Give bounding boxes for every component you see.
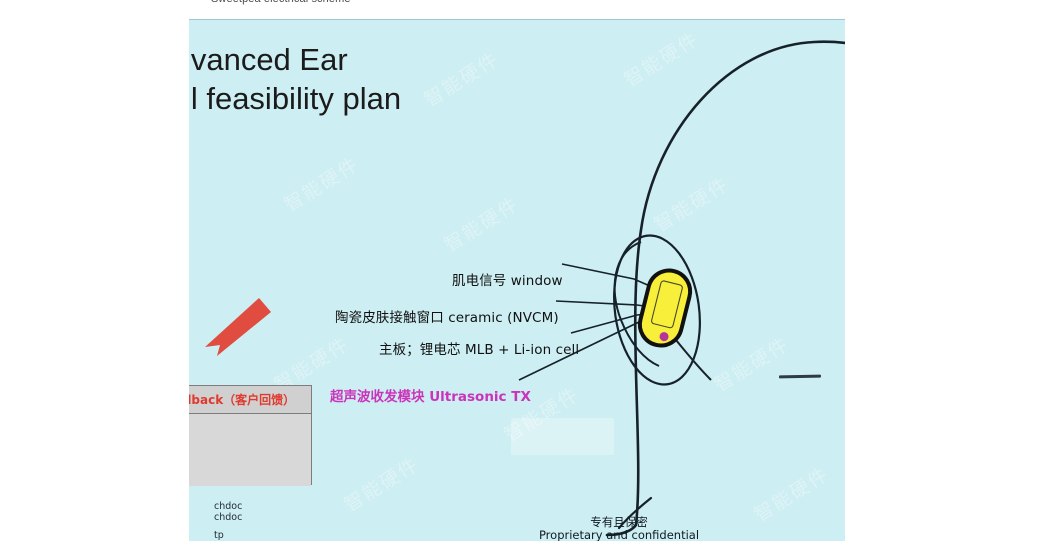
watermark: 智能硬件 xyxy=(278,150,364,217)
confidential-en: Proprietary and confidential xyxy=(529,529,709,541)
screenshot-root: Sweetpea electrical scheme 智能硬件 智能硬件 智能硬… xyxy=(0,0,1057,557)
edge-text-fragment: tp xyxy=(214,530,224,541)
watermark: 智能硬件 xyxy=(438,190,524,257)
watermark: 智能硬件 xyxy=(748,460,834,527)
watermark: 智能硬件 xyxy=(338,450,424,517)
watermark: 智能硬件 xyxy=(708,330,794,397)
window-title-text: Sweetpea electrical scheme xyxy=(211,0,351,5)
red-arrow-icon xyxy=(189,290,279,370)
watermark: 智能硬件 xyxy=(648,170,734,237)
callout-mlb-cell: 主板；锂电芯 MLB + Li-ion cell xyxy=(379,338,579,358)
callout-ultrasonic-tx: 超声波收发模块 Ultrasonic TX xyxy=(330,385,531,405)
feedback-panel-header: ...edback（客户回馈） xyxy=(189,386,311,414)
edge-text-fragment: chdoc xyxy=(214,501,242,512)
feedback-panel-body[interactable] xyxy=(189,414,311,486)
feedback-panel[interactable]: ...edback（客户回馈） xyxy=(189,385,312,485)
faint-rectangle-block xyxy=(511,418,614,455)
feedback-panel-title: ...edback（客户回馈） xyxy=(189,391,295,408)
confidential-footer: 专有且保密 Proprietary and confidential xyxy=(529,515,709,541)
edge-text-fragment: chdoc xyxy=(214,512,242,523)
confidential-cn: 专有且保密 xyxy=(529,515,709,529)
slide-title: ...vanced Ear ...l feasibility plan xyxy=(189,40,685,118)
callout-emg-window: 肌电信号 window xyxy=(452,269,563,289)
slide-canvas[interactable]: 智能硬件 智能硬件 智能硬件 智能硬件 智能硬件 智能硬件 智能硬件 智能硬件 … xyxy=(189,19,845,541)
callout-ceramic-window: 陶瓷皮肤接触窗口 ceramic (NVCM) xyxy=(335,306,559,326)
right-dash-mark xyxy=(779,375,821,379)
